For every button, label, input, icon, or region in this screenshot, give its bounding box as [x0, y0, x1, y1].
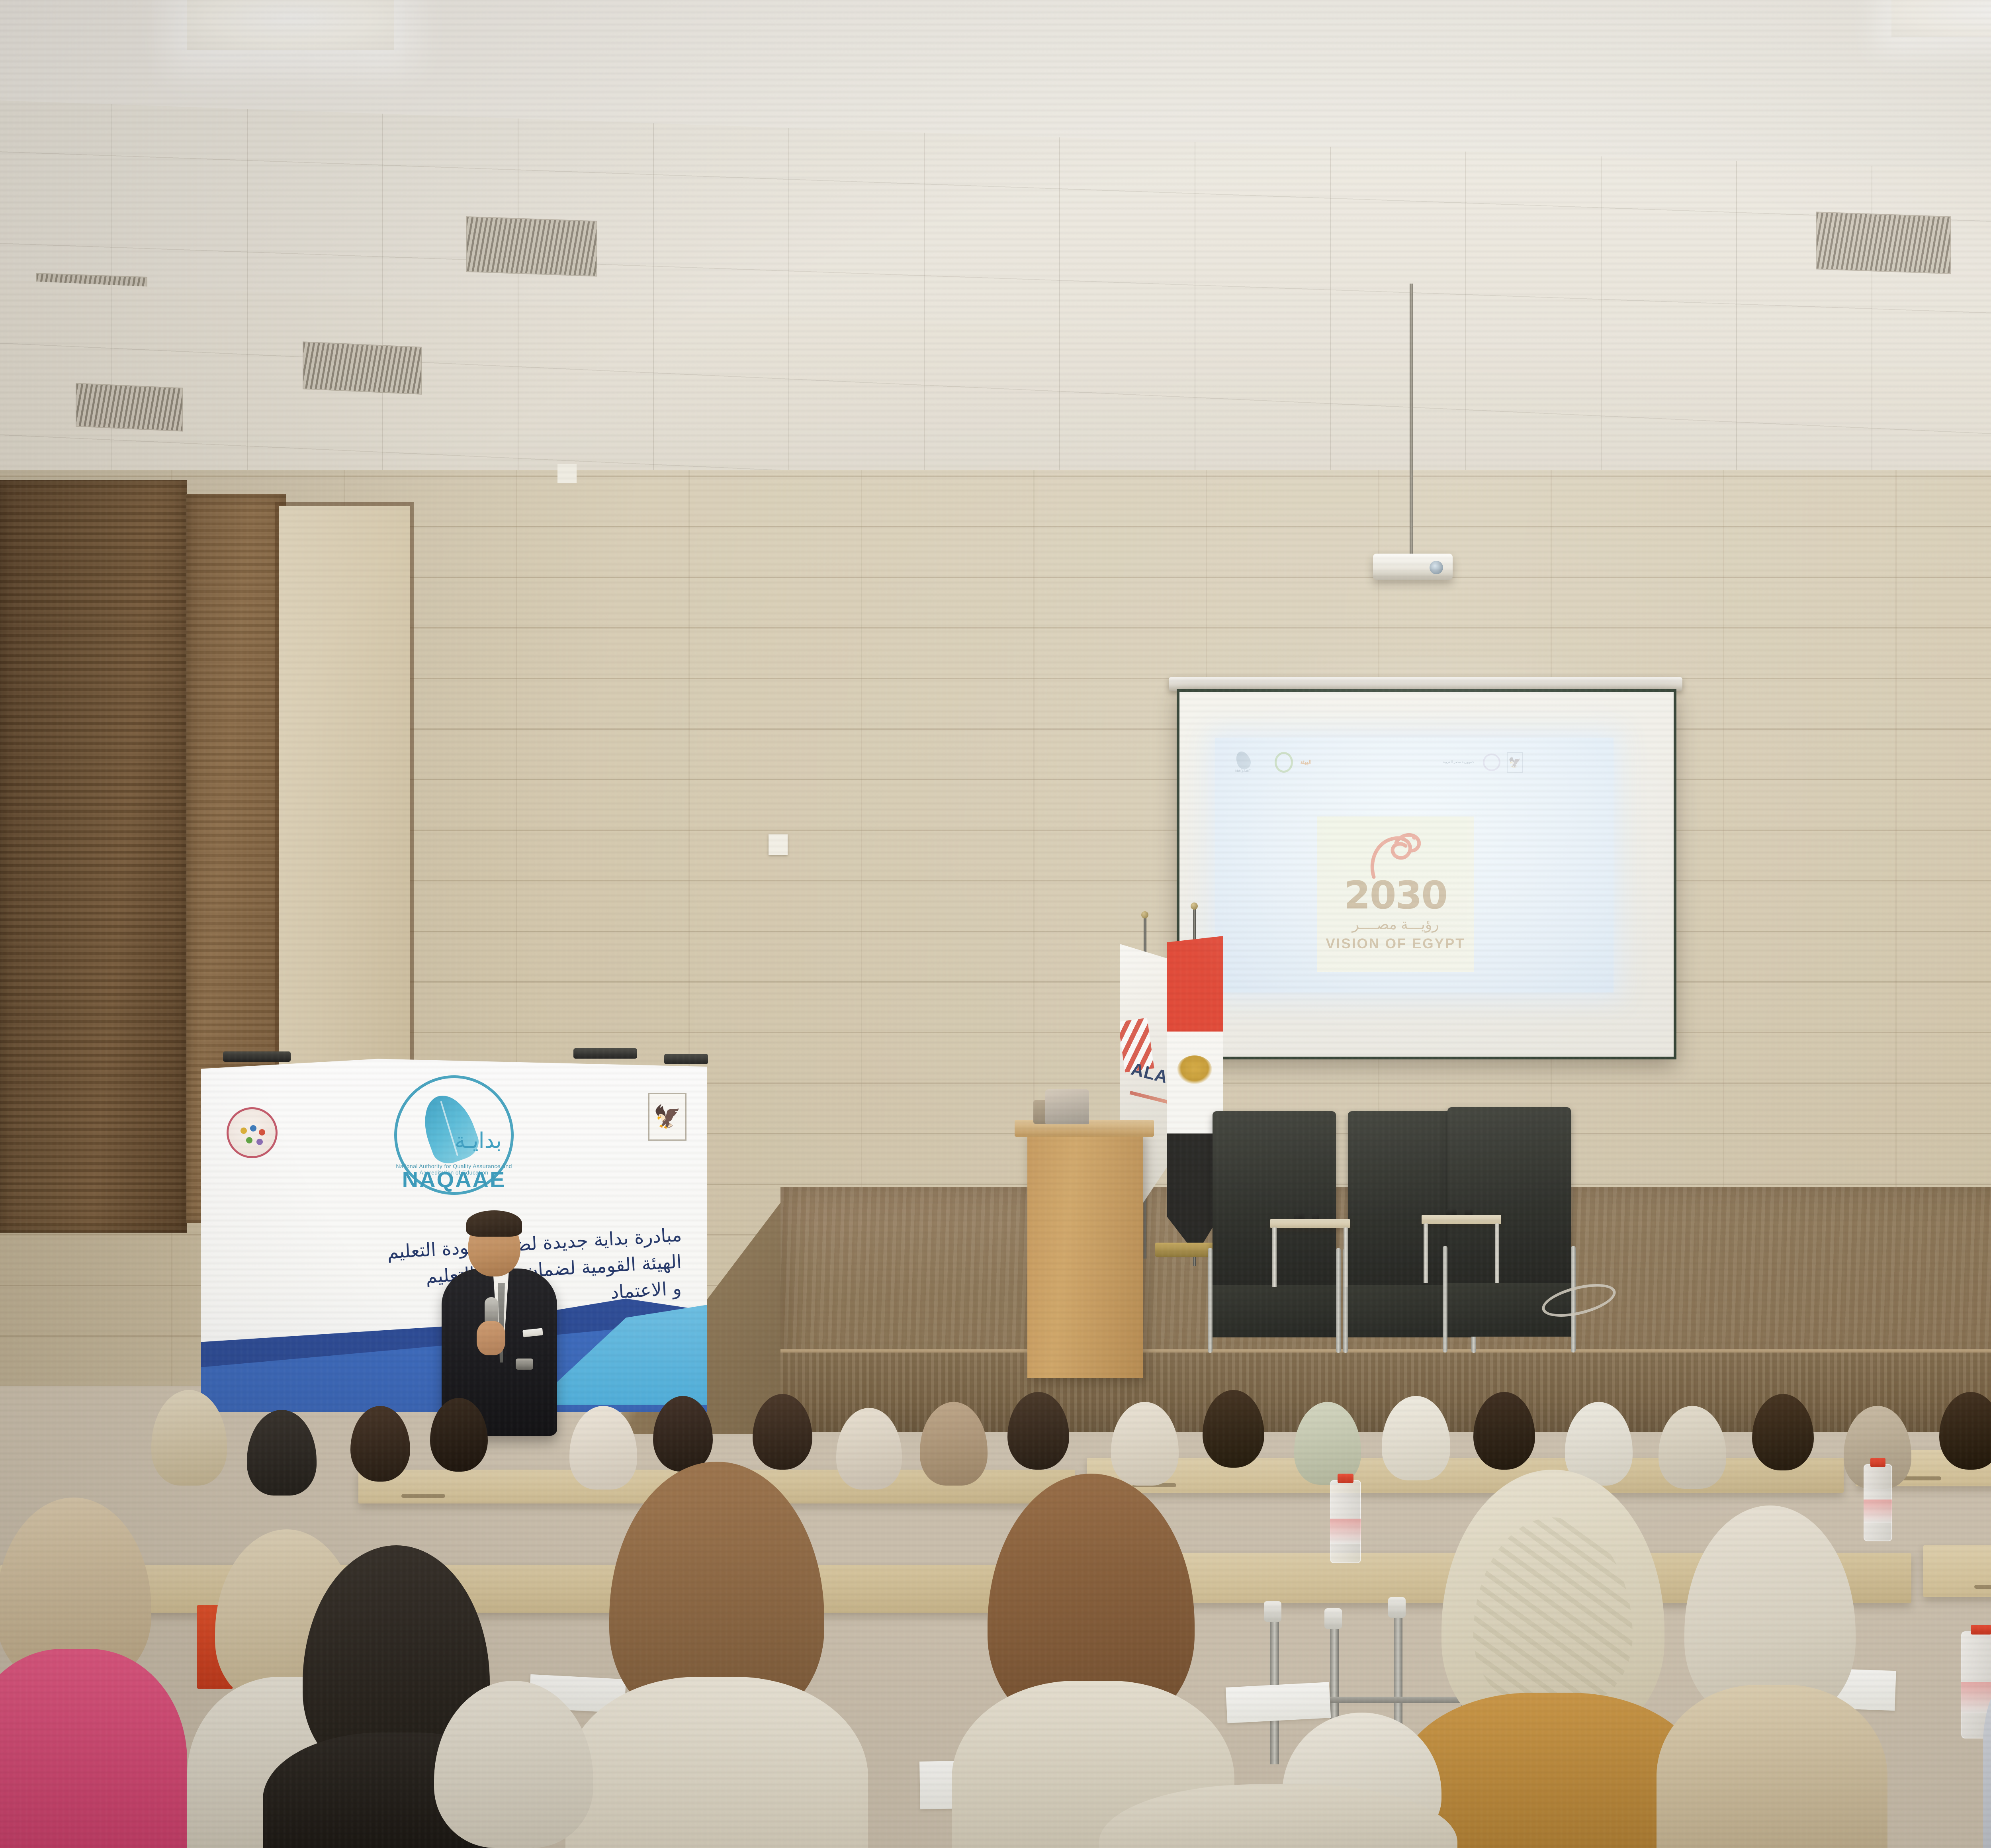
circular-seal-logo: [1483, 754, 1500, 771]
projection-screen: NAQAAE الهيئة جمهورية مصر العربية 🦅: [1177, 689, 1676, 1059]
banner-stand-left-c: [664, 1054, 708, 1064]
projected-slide: NAQAAE الهيئة جمهورية مصر العربية 🦅: [1215, 738, 1614, 993]
ceiling-air-vent: [1816, 211, 1951, 274]
egypt-eagle-emblem: 🦅: [1507, 752, 1523, 773]
wall-fixture-left: [557, 464, 577, 483]
wood-column-far-left: [0, 480, 187, 1233]
stage-side-table-1: [1270, 1219, 1350, 1290]
projector-lens-icon: [1430, 561, 1443, 574]
ceiling-air-vent: [303, 341, 422, 395]
wall-switch-left[interactable]: [769, 834, 788, 855]
water-bottle[interactable]: [1330, 1474, 1361, 1563]
audience-head: [247, 1410, 317, 1496]
green-ring-logo: [1275, 752, 1293, 773]
university-seal-icon: [227, 1107, 278, 1158]
podium: [1027, 1131, 1143, 1378]
vision-calligraphy-icon: [1362, 821, 1430, 881]
egypt-eagle-icon: [1177, 1055, 1212, 1084]
flagpole-finial-egypt: [1191, 902, 1198, 910]
vision-english-text: VISION OF EGYPT: [1317, 936, 1474, 952]
presenter-watch: [516, 1359, 533, 1370]
banner-left-headline-3: و الاعتماد: [610, 1277, 682, 1303]
naqaae-feather-logo: NAQAAE: [1235, 751, 1251, 773]
flagpole-finial-left: [1141, 911, 1148, 918]
orange-arabic-wordmark: الهيئة: [1300, 760, 1311, 765]
audience-member-front: [0, 1498, 199, 1848]
naqaae-logo: بدايـة National Authority for Quality As…: [394, 1075, 514, 1195]
audience-member-front: [1649, 1505, 1887, 1848]
ceiling-air-vent: [466, 216, 597, 277]
banner-stand-left-a: [223, 1051, 291, 1062]
audience-head: [350, 1406, 410, 1482]
vision-arabic-text: رؤيـــة مصــــر: [1317, 916, 1474, 933]
egypt-eagle-emblem-icon: 🦅: [648, 1093, 686, 1141]
vision-2030-logo: 2030 رؤيـــة مصــــر VISION OF EGYPT: [1317, 816, 1474, 972]
auditorium-photo: NAQAAE الهيئة جمهورية مصر العربية 🦅: [0, 0, 1991, 1848]
presenter-hand: [477, 1321, 505, 1355]
ministry-arabic-text: جمهورية مصر العربية: [1443, 760, 1474, 764]
presenter-hair: [466, 1210, 522, 1237]
vision-year: 2030: [1317, 876, 1474, 914]
projector-mount-pole: [1410, 284, 1413, 558]
audience-member-front: [410, 1681, 617, 1848]
stage-side-table-2: [1422, 1215, 1501, 1288]
ceiling-light-panel-2: [1891, 0, 1991, 37]
ceiling-light-panel: [187, 0, 394, 50]
slide-logo-row: NAQAAE الهيئة جمهورية مصر العربية 🦅: [1227, 746, 1602, 778]
ceiling-air-vent: [76, 383, 183, 431]
lecture-desk-row-mid-right: [1923, 1545, 1991, 1597]
podium-stand-object: [1045, 1089, 1089, 1124]
audience-member-foreground: [1099, 1784, 1457, 1848]
audience-member-front: [1983, 1426, 1991, 1848]
banner-stand-left-b: [573, 1048, 637, 1059]
